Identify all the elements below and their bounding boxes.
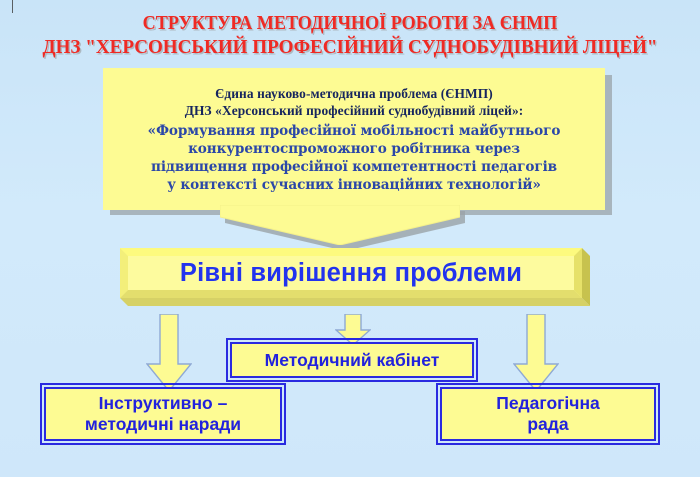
problem-heading-line-2: ДНЗ «Херсонський професійний суднобудівн… bbox=[185, 102, 524, 119]
down-arrow-to-levels-shape bbox=[220, 205, 460, 245]
page-title: СТРУКТУРА МЕТОДИЧНОЇ РОБОТИ ЗА ЄНМП ДНЗ … bbox=[0, 12, 700, 59]
node-pedahohichna-rada[interactable]: Педагогічна рада bbox=[440, 387, 656, 441]
problem-body-line-3: підвищення професійної компетентності пе… bbox=[151, 158, 557, 176]
problem-body-line-2: конкурентоспроможного робітника через bbox=[188, 140, 520, 158]
node-pedahohichna-rada-label: Педагогічна рада bbox=[496, 393, 600, 434]
levels-banner: Рівні вирішення проблеми bbox=[120, 248, 590, 306]
down-arrow-to-levels bbox=[220, 205, 468, 253]
problem-statement-box: Єдина науково-методична проблема (ЄНМП) … bbox=[103, 68, 605, 210]
node-instruktyvno-line-1: Інструктивно – bbox=[99, 393, 228, 413]
problem-body-line-4: у контексті сучасних інноваційних технол… bbox=[167, 176, 541, 194]
title-line-1: СТРУКТУРА МЕТОДИЧНОЇ РОБОТИ ЗА ЄНМП bbox=[25, 12, 676, 35]
problem-heading-line-1: Єдина науково-методична проблема (ЄНМП) bbox=[215, 85, 493, 102]
node-instruktyvno-line-2: методичні наради bbox=[85, 414, 241, 434]
node-pedrada-line-2: рада bbox=[527, 414, 568, 434]
slide-canvas: СТРУКТУРА МЕТОДИЧНОЇ РОБОТИ ЗА ЄНМП ДНЗ … bbox=[0, 0, 700, 477]
node-metodychnyi-kabinet-label: Методичний кабінет bbox=[265, 350, 440, 371]
node-instruktyvno-metodychni-narady-label: Інструктивно – методичні наради bbox=[85, 393, 241, 434]
levels-banner-label: Рівні вирішення проблеми bbox=[120, 248, 582, 298]
title-line-2: ДНЗ "ХЕРСОНСЬКИЙ ПРОФЕСІЙНИЙ СУДНОБУДІВН… bbox=[25, 35, 676, 59]
problem-body-line-1: «Формування професійної мобільності майб… bbox=[148, 122, 561, 140]
down-arrow-right bbox=[513, 314, 559, 392]
down-arrow-left bbox=[146, 314, 192, 392]
node-instruktyvno-metodychni-narady[interactable]: Інструктивно – методичні наради bbox=[44, 387, 282, 441]
node-pedrada-line-1: Педагогічна bbox=[496, 393, 600, 413]
node-metodychnyi-kabinet[interactable]: Методичний кабінет bbox=[230, 342, 474, 378]
